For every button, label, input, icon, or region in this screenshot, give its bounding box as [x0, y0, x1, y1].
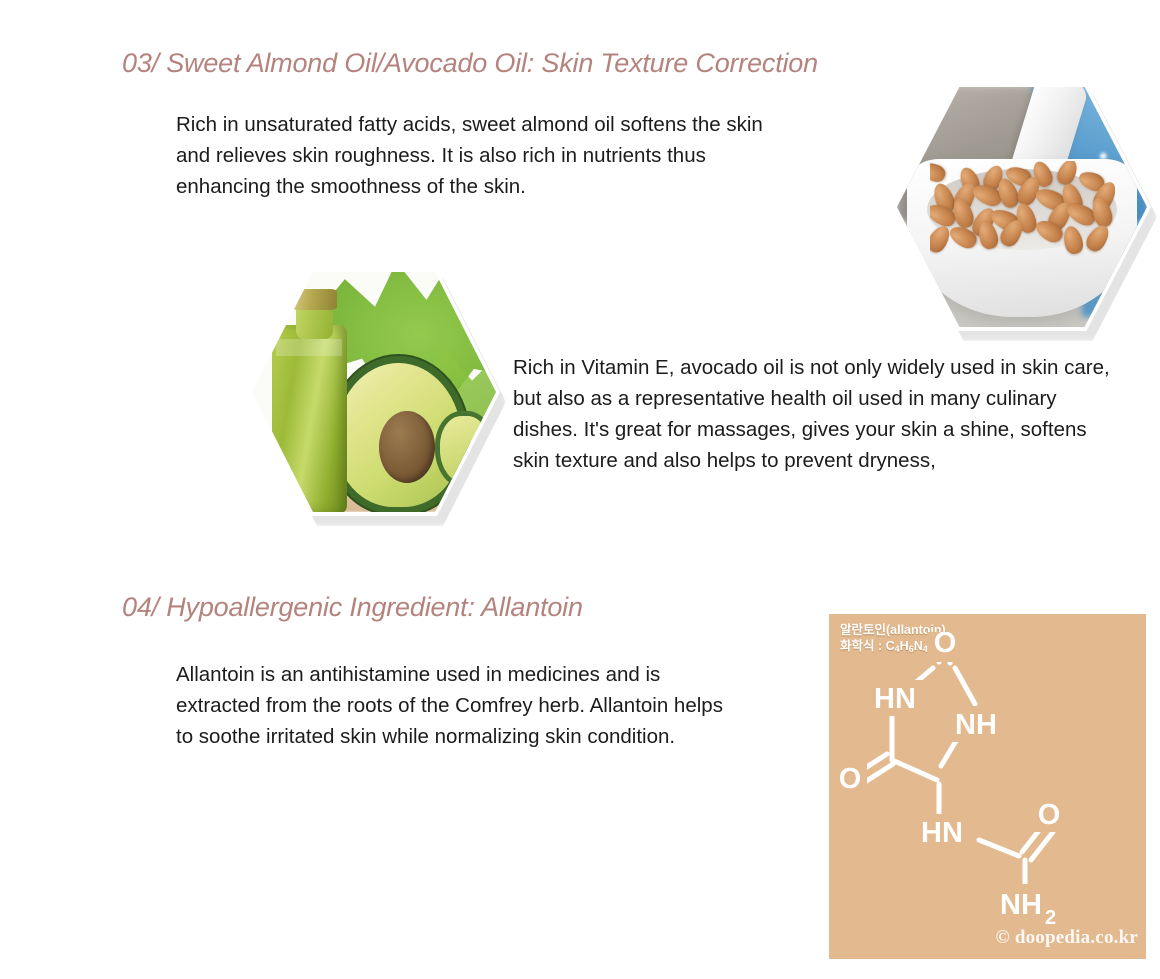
atom-label-nh-ring: NH [955, 709, 997, 741]
doopedia-watermark: © doopedia.co.kr [996, 927, 1139, 949]
allantoin-structure-panel: 알란토인(allantoin) 화학식 : C4H6N4O3 [829, 614, 1146, 959]
paragraph-sweet-almond-oil: Rich in unsaturated fatty acids, sweet a… [176, 109, 776, 202]
oil-bottle-label [276, 339, 342, 356]
bond-c4-c5 [892, 760, 937, 780]
atom-label-nh2-subscript: 2 [1045, 907, 1056, 929]
atom-label-o-chain: O [1038, 799, 1061, 831]
allantoin-chemical-structure-diagram: O HN NH O HN O NH 2 [829, 632, 1146, 959]
almond [1061, 224, 1085, 256]
almond [930, 161, 948, 184]
atom-label-hn-chain: HN [921, 817, 963, 849]
bond-c2-nh [955, 668, 975, 704]
atom-label-o-left: O [839, 763, 862, 795]
section-heading-03: 03/ Sweet Almond Oil/Avocado Oil: Skin T… [122, 48, 818, 79]
paragraph-avocado-oil: Rich in Vitamin E, avocado oil is not on… [513, 352, 1113, 476]
avocado-pit [379, 411, 435, 483]
atom-label-o-top: O [934, 632, 957, 659]
almond [930, 222, 954, 255]
bond-hn-c [979, 840, 1019, 856]
atom-label-hn-ring: HN [874, 683, 916, 715]
section-heading-04: 04/ Hypoallergenic Ingredient: Allantoin [122, 592, 583, 623]
avocado-oil-hexagon-image [248, 268, 500, 516]
almond-cluster [930, 161, 1115, 257]
almonds-in-mortar-hexagon-image [893, 83, 1151, 331]
atom-label-nh2: NH [1000, 889, 1042, 921]
paragraph-allantoin: Allantoin is an antihistamine used in me… [176, 659, 736, 752]
document-page: 03/ Sweet Almond Oil/Avocado Oil: Skin T… [0, 0, 1160, 979]
almond [1083, 221, 1113, 254]
structure-bonds [859, 632, 1053, 904]
